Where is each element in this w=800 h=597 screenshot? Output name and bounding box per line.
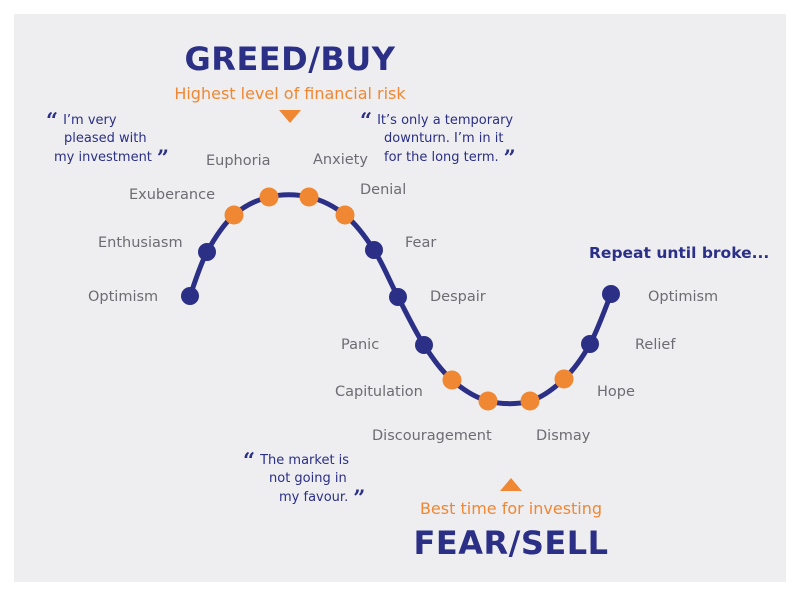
quote-line: not going in xyxy=(243,470,365,488)
stage-label-fear: Fear xyxy=(405,235,436,251)
greed-buy-title: GREED/BUY xyxy=(150,40,430,78)
quote-line: The market is xyxy=(260,453,349,468)
stage-label-relief-2: Relief xyxy=(635,337,675,353)
stage-label-exuberance: Exuberance xyxy=(129,187,215,203)
stage-label-anxiety: Anxiety xyxy=(313,152,368,168)
quote-top-right: “It’s only a temporary downturn. I’m in … xyxy=(360,112,516,167)
fear-sell-subtitle: Best time for investing xyxy=(371,499,651,518)
quote-close-icon: ” xyxy=(353,485,365,510)
quote-close-icon: ” xyxy=(157,145,169,170)
quote-line: I’m very xyxy=(63,113,117,128)
quote-line: downturn. I’m in it xyxy=(360,130,516,148)
quote-line: It’s only a temporary xyxy=(377,113,513,128)
quote-top-left: “I’m very pleased with my investment” xyxy=(46,112,169,167)
stage-label-discouragement: Discouragement xyxy=(372,428,492,444)
stage-label-enthusiasm: Enthusiasm xyxy=(98,235,183,251)
stage-label-panic: Panic xyxy=(341,337,379,353)
stage-label-despair: Despair xyxy=(430,289,486,305)
triangle-down-icon xyxy=(279,110,301,123)
greed-buy-subtitle: Highest level of financial risk xyxy=(150,84,430,103)
stage-label-euphoria: Euphoria xyxy=(206,153,271,169)
stage-label-optimism: Optimism xyxy=(88,289,158,305)
quote-line: my investment xyxy=(54,150,152,165)
quote-close-icon: ” xyxy=(504,145,516,170)
fear-sell-title: FEAR/SELL xyxy=(371,524,651,562)
quote-line: for the long term. xyxy=(384,150,499,165)
quote-open-icon: “ xyxy=(243,448,255,473)
infographic-canvas: GREED/BUY Highest level of financial ris… xyxy=(0,0,800,597)
quote-line: my favour. xyxy=(279,490,348,505)
triangle-up-icon xyxy=(500,478,522,491)
stage-label-capitulation: Capitulation xyxy=(335,384,423,400)
stage-label-hope: Hope xyxy=(597,384,635,400)
quote-open-icon: “ xyxy=(360,108,372,133)
quote-line: pleased with xyxy=(46,130,169,148)
quote-bottom-left: “The market is not going in my favour.” xyxy=(243,452,365,507)
stage-label-optimism-2: Optimism xyxy=(648,289,718,305)
stage-label-denial: Denial xyxy=(360,182,406,198)
repeat-until-broke-note: Repeat until broke... xyxy=(589,244,769,262)
stage-label-dismay: Dismay xyxy=(536,428,590,444)
quote-open-icon: “ xyxy=(46,108,58,133)
